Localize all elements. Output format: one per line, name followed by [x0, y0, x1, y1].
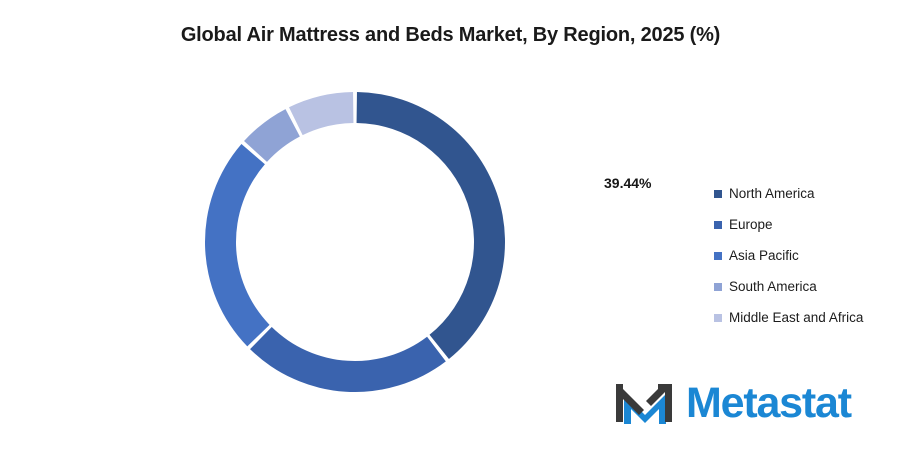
legend-label: North America [729, 187, 815, 201]
metastat-logo-text: Metastat [686, 382, 851, 425]
legend-swatch-icon [714, 252, 722, 260]
donut-slice[interactable] [357, 92, 505, 359]
donut-chart [205, 92, 505, 392]
legend-swatch-icon [714, 314, 722, 322]
legend-label: South America [729, 280, 817, 294]
legend-item-south-america[interactable]: South America [714, 271, 894, 302]
chart-legend: North America Europe Asia Pacific South … [714, 178, 894, 333]
legend-item-asia-pacific[interactable]: Asia Pacific [714, 240, 894, 271]
legend-swatch-icon [714, 221, 722, 229]
donut-slice[interactable] [205, 144, 270, 346]
chart-title: Global Air Mattress and Beds Market, By … [0, 24, 901, 47]
donut-slice[interactable] [250, 327, 446, 392]
donut-slice-group [205, 92, 505, 392]
chart-container: Global Air Mattress and Beds Market, By … [0, 0, 901, 453]
legend-label: Middle East and Africa [729, 311, 863, 325]
legend-swatch-icon [714, 283, 722, 291]
legend-item-north-america[interactable]: North America [714, 178, 894, 209]
legend-label: Asia Pacific [729, 249, 799, 263]
legend-label: Europe [729, 218, 773, 232]
metastat-logo: Metastat [610, 378, 851, 428]
donut-slice[interactable] [289, 92, 353, 135]
donut-chart-svg [205, 92, 505, 392]
legend-item-middle-east-and-africa[interactable]: Middle East and Africa [714, 302, 894, 333]
metastat-logo-mark-icon [610, 378, 682, 428]
legend-item-europe[interactable]: Europe [714, 209, 894, 240]
legend-swatch-icon [714, 190, 722, 198]
data-label-north-america: 39.44% [604, 175, 651, 191]
